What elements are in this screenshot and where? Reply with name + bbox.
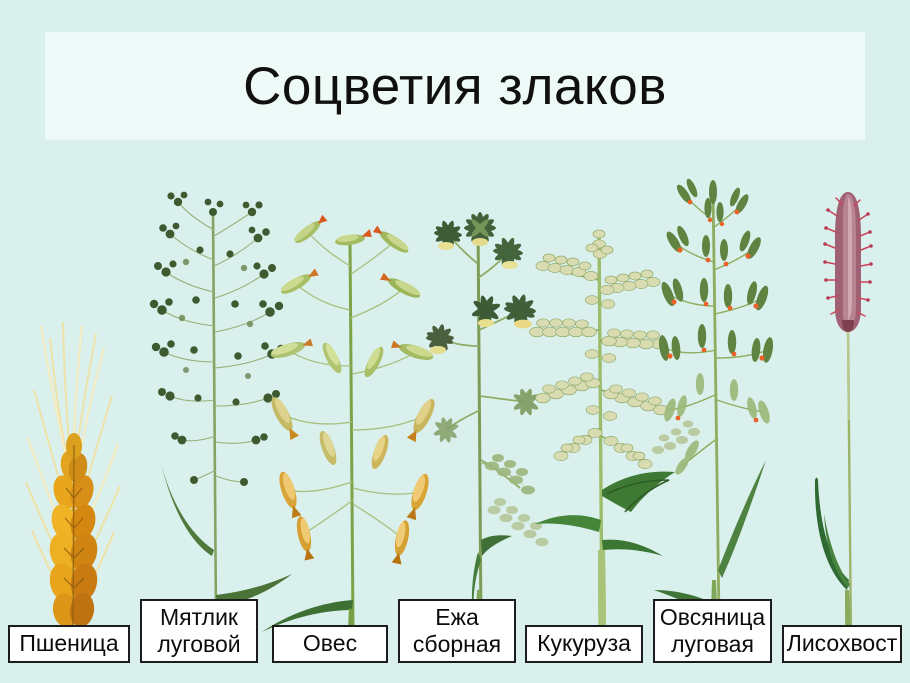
label-box-maize[interactable]: Кукуруза: [525, 625, 643, 663]
label-text-cocksfoot: Ежа сборная: [413, 604, 501, 658]
foxtail-spike-icon: [798, 180, 903, 650]
label-text-foxtail: Лисохвост: [787, 630, 898, 657]
label-text-fescue: Овсяница луговая: [660, 604, 765, 658]
label-text-oat: Овес: [303, 630, 357, 657]
page-title: Соцветия злаков: [45, 32, 865, 140]
plant-illustration-wheat: [8, 230, 138, 650]
label-text-bluegrass: Мятлик луговой: [157, 604, 240, 658]
plant-illustration-row: [0, 150, 910, 650]
label-box-foxtail[interactable]: Лисохвост: [782, 625, 902, 663]
plant-illustration-foxtail: [798, 180, 903, 650]
label-box-cocksfoot[interactable]: Ежа сборная: [398, 599, 516, 663]
label-text-maize: Кукуруза: [537, 630, 631, 657]
label-text-wheat: Пшеница: [19, 630, 118, 657]
label-box-wheat[interactable]: Пшеница: [8, 625, 130, 663]
label-box-oat[interactable]: Овес: [272, 625, 388, 663]
plant-illustration-fescue: [640, 150, 790, 650]
label-box-bluegrass[interactable]: Мятлик луговой: [140, 599, 258, 663]
fescue-panicle-icon: [640, 150, 790, 650]
wheat-ear-icon: [8, 230, 138, 650]
title-box: Соцветия злаков: [45, 32, 865, 140]
slide-canvas: Соцветия злаков: [0, 0, 910, 683]
label-box-fescue[interactable]: Овсяница луговая: [653, 599, 772, 663]
